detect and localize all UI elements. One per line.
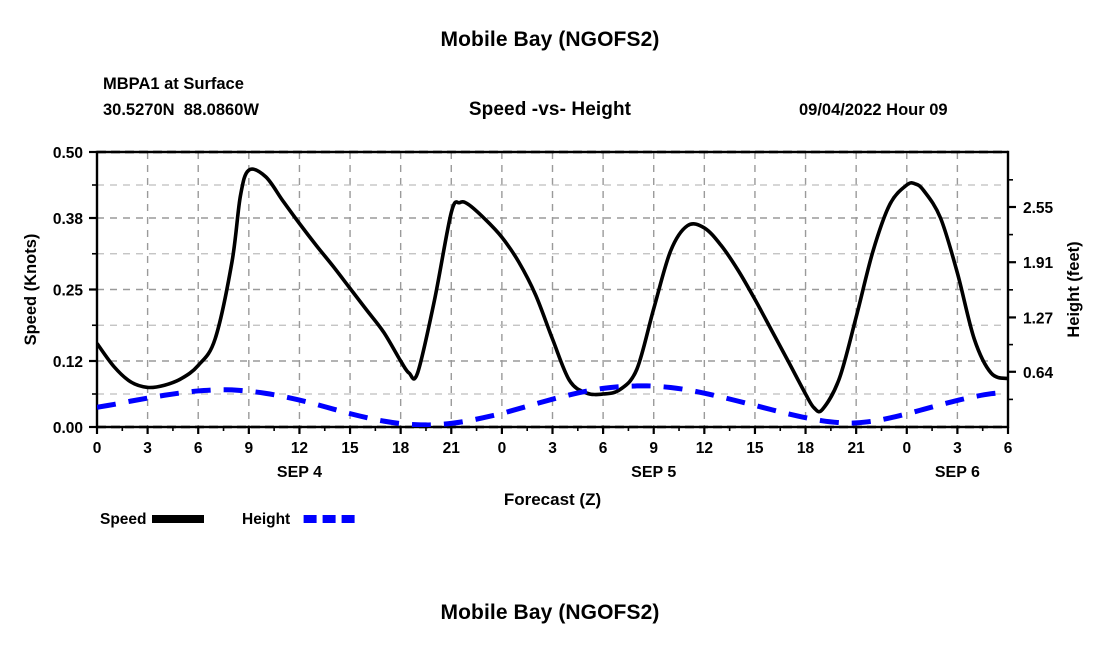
legend-label-height: Height — [242, 511, 290, 528]
chart-gridlines — [97, 152, 1008, 427]
xtick-label: 0 — [498, 440, 507, 457]
ytick-left-label: 0.12 — [53, 354, 83, 371]
ytick-right-label: 1.91 — [1023, 255, 1054, 272]
xtick-label: 18 — [392, 440, 410, 457]
xtick-label: 15 — [746, 440, 764, 457]
day-label: SEP 5 — [631, 464, 676, 481]
xtick-label: 3 — [143, 440, 152, 457]
day-label: SEP 4 — [277, 464, 322, 481]
xtick-label: 3 — [953, 440, 962, 457]
ytick-left-label: 0.50 — [53, 145, 83, 162]
xtick-label: 9 — [245, 440, 254, 457]
xtick-label: 21 — [848, 440, 866, 457]
ytick-left-label: 0.00 — [53, 420, 83, 437]
xtick-label: 0 — [93, 440, 102, 457]
xtick-label: 15 — [341, 440, 359, 457]
speed-vs-height-chart: 036912151821036912151821036SEP 4SEP 5SEP… — [0, 0, 1100, 560]
xtick-label: 6 — [599, 440, 608, 457]
bottom-title: Mobile Bay (NGOFS2) — [0, 601, 1100, 625]
day-label: SEP 6 — [935, 464, 980, 481]
xtick-label: 12 — [291, 440, 308, 457]
legend-label-speed: Speed — [100, 511, 147, 528]
yaxis-left-title: Speed (Knots) — [22, 234, 40, 346]
xtick-label: 18 — [797, 440, 815, 457]
yaxis-right-title: Height (feet) — [1065, 241, 1083, 337]
xtick-label: 3 — [548, 440, 557, 457]
ytick-left-label: 0.25 — [53, 283, 84, 300]
xtick-label: 9 — [649, 440, 658, 457]
chart-page: Mobile Bay (NGOFS2) MBPA1 at Surface 30.… — [0, 0, 1100, 650]
xtick-label: 21 — [443, 440, 461, 457]
xtick-label: 6 — [1004, 440, 1013, 457]
ytick-right-label: 1.27 — [1023, 310, 1053, 327]
xtick-label: 6 — [194, 440, 203, 457]
ytick-left-label: 0.38 — [53, 211, 84, 228]
ytick-right-label: 2.55 — [1023, 200, 1054, 217]
xtick-label: 0 — [902, 440, 911, 457]
xaxis-title: Forecast (Z) — [504, 490, 601, 509]
ytick-right-label: 0.64 — [1023, 365, 1054, 382]
xtick-label: 12 — [696, 440, 713, 457]
